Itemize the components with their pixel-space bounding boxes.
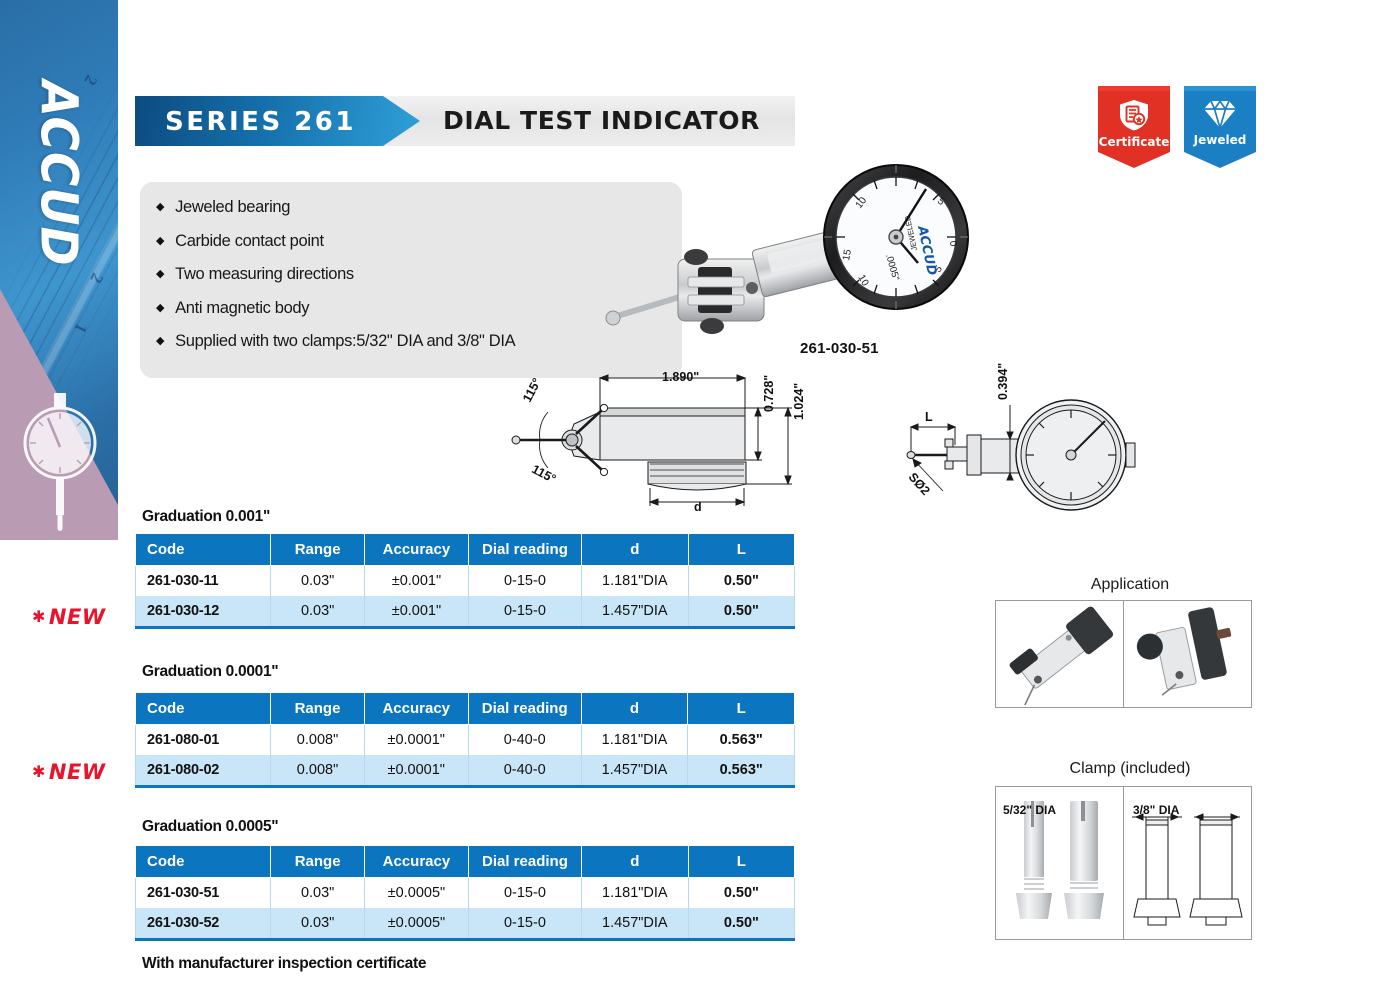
spec-table-2: Code Range Accuracy Dial reading d L 261… (135, 692, 795, 788)
asterisk-icon: ✱ (32, 607, 46, 626)
brand-sidebar: 2 2 1 ACCUD (0, 0, 118, 540)
cell-dial-reading: 0-15-0 (468, 878, 581, 909)
certificate-shield-icon (1117, 98, 1151, 132)
col-d: d (581, 534, 688, 566)
col-l: L (688, 534, 794, 566)
badge-top-stripe (1184, 86, 1256, 91)
cell-code: 261-080-02 (136, 755, 271, 787)
cell-accuracy: ±0.0001" (364, 725, 468, 756)
clamp-images-box: 5/32" DIA 3/8" DIA (995, 786, 1252, 940)
cell-d: 1.181"DIA (581, 725, 688, 756)
table-row: 261-030-12 0.03" ±0.001" 0-15-0 1.457"DI… (136, 596, 795, 628)
col-l: L (688, 693, 795, 725)
certificate-badge: Certificate (1098, 86, 1170, 168)
cell-d: 1.457"DIA (581, 908, 688, 940)
cell-dial-reading: 0-15-0 (468, 908, 581, 940)
clamp-dim-small-label: 5/32" DIA (1003, 803, 1056, 817)
application-photo-left (996, 601, 1123, 705)
col-accuracy: Accuracy (364, 846, 468, 878)
cell-dial-reading: 0-40-0 (468, 755, 581, 787)
cell-accuracy: ±0.0001" (364, 755, 468, 787)
table-row: 261-080-02 0.008" ±0.0001" 0-40-0 1.457"… (136, 755, 795, 787)
clamp-dim-large-label: 3/8" DIA (1133, 803, 1179, 817)
col-code: Code (136, 846, 271, 878)
cell-l: 0.50" (688, 908, 794, 940)
table-header-row: Code Range Accuracy Dial reading d L (136, 846, 795, 878)
graduation-title-1: Graduation 0.001" (142, 508, 270, 526)
cell-l: 0.50" (688, 596, 794, 628)
cell-code: 261-030-52 (136, 908, 271, 940)
diamond-bullet-icon: ◆ (156, 332, 164, 351)
new-label: NEW (49, 605, 106, 629)
cell-d: 1.457"DIA (581, 755, 688, 787)
table-header-row: Code Range Accuracy Dial reading d L (136, 693, 795, 725)
cell-range: 0.008" (271, 755, 364, 787)
cell-code: 261-030-51 (136, 878, 271, 909)
cell-l: 0.563" (688, 755, 795, 787)
inspection-certificate-note: With manufacturer inspection certificate (142, 955, 426, 973)
feature-text: Supplied with two clamps:5/32" DIA and 3… (175, 332, 515, 351)
new-label: NEW (49, 760, 106, 784)
dim-d-label: d (694, 500, 702, 514)
catalog-page: 2 2 1 ACCUD SERIES 261 DIAL TEST INDICAT… (0, 0, 1387, 990)
col-code: Code (136, 693, 271, 725)
application-title: Application (995, 576, 1265, 594)
cell-range: 0.03" (271, 878, 365, 909)
badge-group: Certificate Jeweled (1098, 86, 1256, 168)
spec-table-3: Code Range Accuracy Dial reading d L 261… (135, 845, 795, 941)
product-photo: 5 10 15 10 5 0 ACCUD .0005" JEWELED (600, 155, 990, 355)
cell-l: 0.50" (688, 566, 794, 597)
col-accuracy: Accuracy (364, 693, 468, 725)
dim-length-label: 1.890" (662, 370, 699, 384)
cell-accuracy: ±0.001" (364, 596, 468, 628)
col-code: Code (136, 534, 271, 566)
spec-table-1: Code Range Accuracy Dial reading d L 261… (135, 533, 795, 629)
clamp-title: Clamp (included) (995, 760, 1265, 778)
cell-l: 0.563" (688, 725, 795, 756)
dimension-drawing-front-view (905, 385, 1140, 515)
application-images-box (995, 600, 1252, 708)
jeweled-badge-label: Jeweled (1194, 133, 1247, 147)
table-row: 261-030-52 0.03" ±0.0005" 0-15-0 1.457"D… (136, 908, 795, 940)
table-header-row: Code Range Accuracy Dial reading d L (136, 534, 795, 566)
feature-text: Carbide contact point (175, 232, 324, 251)
new-marker-2: ✱NEW (32, 760, 106, 784)
jeweled-badge: Jeweled (1184, 86, 1256, 168)
col-l: L (688, 846, 794, 878)
col-range: Range (271, 846, 365, 878)
col-dial-reading: Dial reading (468, 693, 581, 725)
cell-accuracy: ±0.0005" (364, 908, 468, 940)
cell-code: 261-030-12 (136, 596, 271, 628)
feature-text: Two measuring directions (175, 265, 354, 284)
col-d: d (581, 693, 688, 725)
accud-logo-text: ACCUD (28, 80, 87, 266)
col-accuracy: Accuracy (364, 534, 468, 566)
cell-range: 0.008" (271, 725, 364, 756)
series-label: SERIES 261 (165, 107, 356, 137)
col-dial-reading: Dial reading (468, 846, 581, 878)
product-photo-caption: 261-030-51 (800, 340, 879, 357)
dim-outer-height-label: 1.024" (792, 383, 806, 420)
col-dial-reading: Dial reading (468, 534, 581, 566)
dim-L-label: L (925, 410, 933, 424)
accud-logo: ACCUD (0, 38, 118, 308)
dim-offset-label: 0.394" (996, 363, 1010, 400)
diamond-bullet-icon: ◆ (156, 299, 164, 318)
col-range: Range (271, 693, 364, 725)
dial-indicator-outline-icon (18, 385, 102, 535)
new-marker-1: ✱NEW (32, 605, 106, 629)
application-photo-right (1124, 601, 1250, 705)
diamond-icon (1202, 98, 1238, 130)
cell-dial-reading: 0-40-0 (468, 725, 581, 756)
cell-accuracy: ±0.0005" (364, 878, 468, 909)
cell-l: 0.50" (688, 878, 794, 909)
page-title: DIAL TEST INDICATOR (443, 106, 760, 135)
cell-range: 0.03" (271, 908, 365, 940)
col-d: d (581, 846, 688, 878)
col-range: Range (271, 534, 365, 566)
table-row: 261-030-11 0.03" ±0.001" 0-15-0 1.181"DI… (136, 566, 795, 597)
graduation-title-3: Graduation 0.0005" (142, 818, 278, 836)
cell-dial-reading: 0-15-0 (468, 596, 581, 628)
feature-text: Jeweled bearing (175, 198, 290, 217)
cell-accuracy: ±0.001" (364, 566, 468, 597)
dim-inner-height-label: 0.728" (762, 375, 776, 412)
cell-code: 261-030-11 (136, 566, 271, 597)
cell-d: 1.457"DIA (581, 596, 688, 628)
table-row: 261-080-01 0.008" ±0.0001" 0-40-0 1.181"… (136, 725, 795, 756)
diamond-bullet-icon: ◆ (156, 198, 164, 217)
cell-range: 0.03" (271, 566, 365, 597)
page-header-banner: SERIES 261 DIAL TEST INDICATOR (135, 96, 795, 146)
badge-top-stripe (1098, 86, 1170, 91)
diamond-bullet-icon: ◆ (156, 232, 164, 251)
cell-d: 1.181"DIA (581, 878, 688, 909)
cell-d: 1.181"DIA (581, 566, 688, 597)
cell-range: 0.03" (271, 596, 365, 628)
certificate-badge-label: Certificate (1099, 135, 1170, 149)
graduation-title-2: Graduation 0.0001" (142, 663, 278, 681)
feature-text: Anti magnetic body (175, 299, 309, 318)
cell-code: 261-080-01 (136, 725, 271, 756)
diamond-bullet-icon: ◆ (156, 265, 164, 284)
table-row: 261-030-51 0.03" ±0.0005" 0-15-0 1.181"D… (136, 878, 795, 909)
cell-dial-reading: 0-15-0 (468, 566, 581, 597)
asterisk-icon: ✱ (32, 762, 46, 781)
